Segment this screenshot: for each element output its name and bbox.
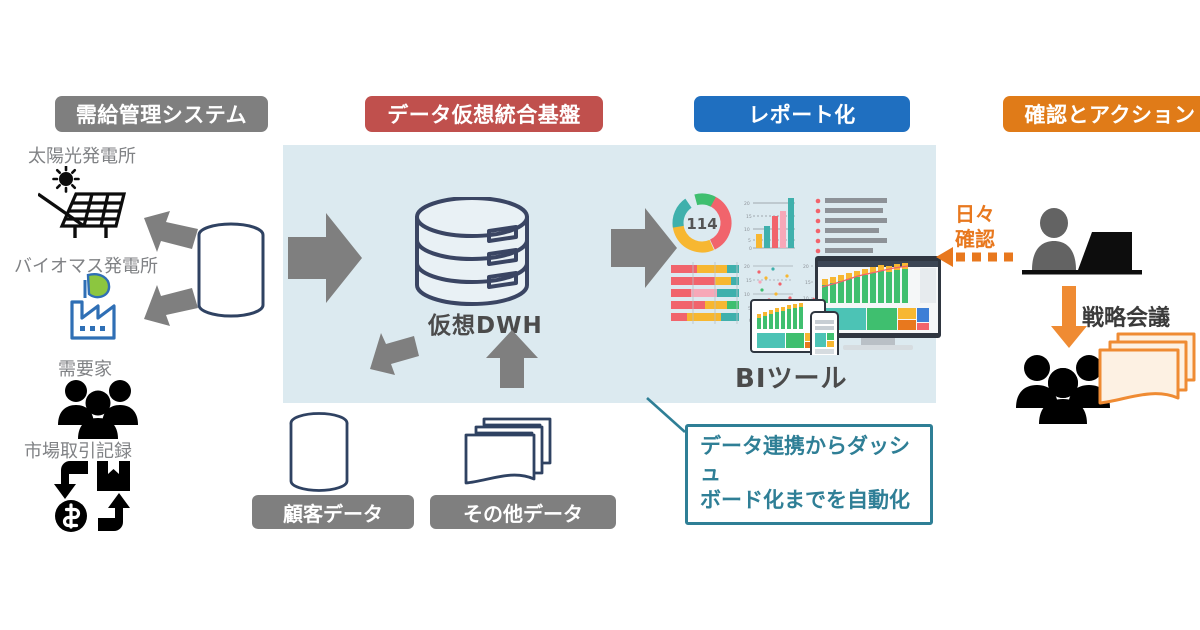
stage-pill-reporting[interactable]: レポート化 <box>694 96 910 132</box>
customer-data-label[interactable]: 顧客データ <box>252 495 414 529</box>
stage-pill-virtual-integration[interactable]: データ仮想統合基盤 <box>365 96 603 132</box>
market-transaction-icon <box>50 459 136 533</box>
daily-check-line-1: 日々 <box>955 202 995 226</box>
diagram-canvas: 需給管理システム データ仮想統合基盤 レポート化 確認とアクション 太陽光発電所… <box>0 0 1200 630</box>
stage-label: 確認とアクション <box>1025 99 1196 129</box>
svg-text:114: 114 <box>686 215 717 233</box>
arrow-customer-data-to-dwh-icon <box>368 333 420 383</box>
svg-text:10: 10 <box>744 292 750 298</box>
caps-text: その他データ <box>463 498 583 527</box>
mini-stacked-bars <box>671 262 739 324</box>
staging-db-icon <box>195 222 267 318</box>
bi-dashboard-icon: 114 2015 1050 <box>665 190 945 355</box>
stage-label: レポート化 <box>748 99 856 129</box>
other-data-icon <box>460 415 556 487</box>
virtual-dwh-icon <box>413 197 531 307</box>
callout-line-2: ボード化までを自動化 <box>700 487 920 514</box>
stage-pill-supply-demand[interactable]: 需給管理システム <box>55 96 268 132</box>
stage-pill-check-action[interactable]: 確認とアクション <box>1003 96 1200 132</box>
svg-text:20: 20 <box>744 264 750 270</box>
callout-line-1: データ連携からダッシュ <box>700 433 920 487</box>
svg-text:20: 20 <box>744 201 750 207</box>
mini-list <box>816 198 887 253</box>
arrow-staging-to-dwh-icon <box>288 213 362 303</box>
strategy-meeting-label: 戦略会議 <box>1082 300 1170 332</box>
dashboard-phone <box>811 312 838 355</box>
source-label-solar-plant: 太陽光発電所 <box>28 142 136 168</box>
solar-panel-icon <box>38 166 130 241</box>
mini-bar-chart: 2015 1050 <box>744 198 795 252</box>
svg-text:10: 10 <box>744 227 750 233</box>
person-laptop-icon <box>1022 208 1142 280</box>
biomass-factory-icon <box>58 272 138 344</box>
svg-text:15: 15 <box>746 278 752 284</box>
bi-tool-label: BIツール <box>735 358 848 395</box>
svg-text:15: 15 <box>746 214 752 220</box>
svg-text:15: 15 <box>805 280 811 286</box>
svg-text:20: 20 <box>803 264 809 270</box>
svg-text:5: 5 <box>748 238 751 244</box>
customer-data-icon <box>288 412 350 492</box>
svg-text:0: 0 <box>749 246 752 252</box>
arrow-other-data-to-dwh-icon <box>486 330 538 388</box>
stage-label: データ仮想統合基盤 <box>387 99 581 129</box>
daily-check-dashed-arrow-icon <box>936 244 1014 270</box>
automation-callout: データ連携からダッシュ ボード化までを自動化 <box>685 424 933 525</box>
caps-text: 顧客データ <box>283 498 383 527</box>
other-data-label[interactable]: その他データ <box>430 495 616 529</box>
stage-label: 需給管理システム <box>76 99 247 129</box>
donut-chart: 114 <box>670 191 733 254</box>
people-group-icon <box>56 377 140 439</box>
documents-stack-orange-icon <box>1094 330 1200 408</box>
